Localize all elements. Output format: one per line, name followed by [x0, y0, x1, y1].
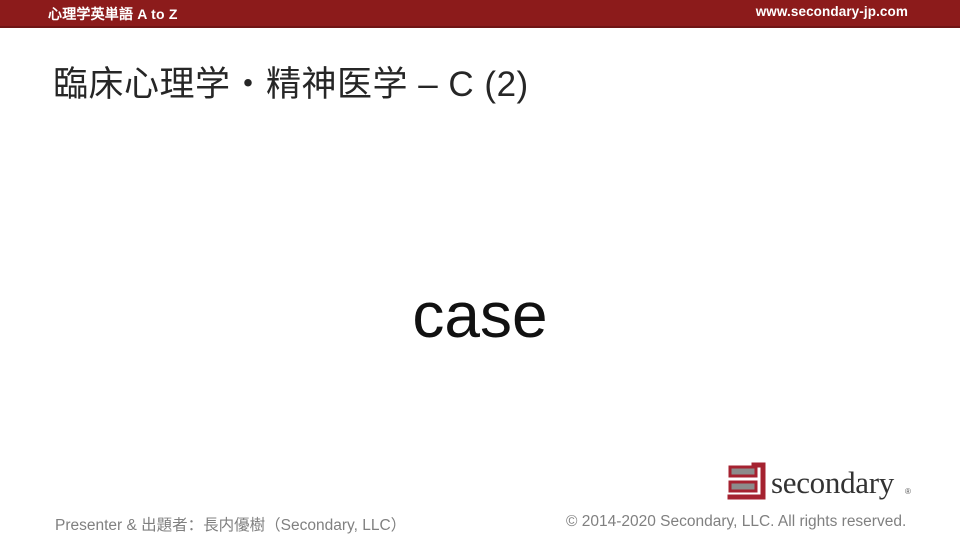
slide-title: 臨床心理学・精神医学 – C (2) [53, 56, 529, 107]
stacked-books-two-mark-icon [727, 461, 767, 501]
registered-trademark-icon: ® [905, 487, 911, 496]
header-site-url: www.secondary-jp.com [756, 4, 908, 19]
header-series-title: 心理学英単語 A to Z [48, 4, 178, 24]
header-band: 心理学英単語 A to Z www.secondary-jp.com [0, 0, 960, 28]
footer-presenter: Presenter & 出題者：長内優樹（Secondary, LLC） [55, 513, 406, 535]
logo-wordmark: secondary [771, 465, 894, 501]
footer-copyright: © 2014-2020 Secondary, LLC. All rights r… [566, 513, 906, 531]
main-term: case [0, 282, 960, 349]
slide-canvas: 心理学英単語 A to Z www.secondary-jp.com 臨床心理学… [0, 0, 960, 540]
brand-logo: secondary ® [727, 459, 913, 505]
